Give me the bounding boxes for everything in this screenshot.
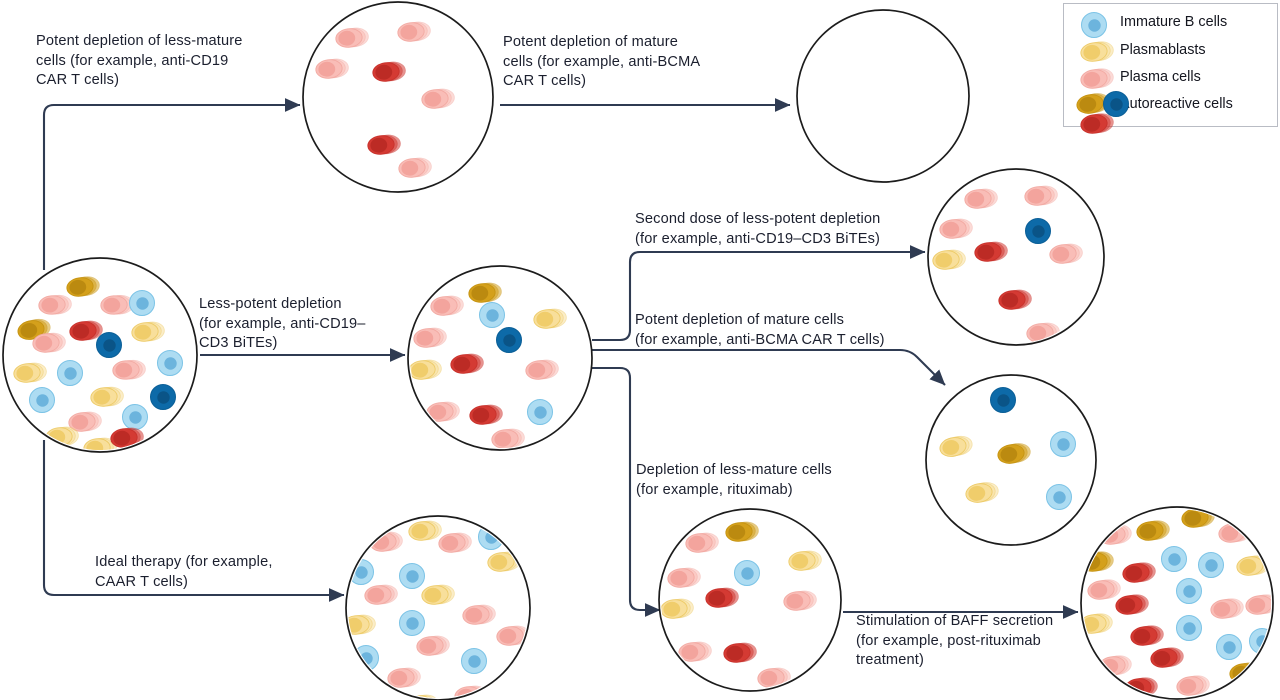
cell-immatureB: [1082, 13, 1107, 38]
cell-immatureB-auto: [497, 328, 522, 353]
arrow-potent-mature-mid: [592, 350, 945, 385]
cell-immatureB: [349, 560, 374, 585]
baseline-cell-population: [3, 258, 197, 459]
cell-immatureB-auto: [151, 385, 176, 410]
label-potent-mature-mid: Potent depletion of mature cells (for ex…: [635, 311, 945, 350]
cell-immatureB: [480, 303, 505, 328]
cell-immatureB: [1162, 547, 1187, 572]
bcma-depletion-outcome: [926, 375, 1096, 545]
partially-depleted-population: [408, 266, 592, 450]
cell-immatureB: [1051, 432, 1076, 457]
cell-immatureB: [400, 564, 425, 589]
cell-immatureB: [1047, 485, 1072, 510]
baff-expanded-population: [1079, 506, 1280, 699]
cell-plasma: [100, 295, 134, 315]
arrow-potent-less-mature: [44, 105, 300, 270]
cell-immatureB: [1217, 635, 1242, 660]
cell-immatureB-auto: [97, 333, 122, 358]
cell-immatureB: [400, 611, 425, 636]
cell-immatureB: [123, 405, 148, 430]
legend-icons: [1064, 4, 1277, 126]
label-baff: Stimulation of BAFF secretion (for examp…: [856, 612, 1106, 671]
cell-immatureB: [1177, 616, 1202, 641]
label-less-potent: Less-potent depletion (for example, anti…: [199, 295, 414, 354]
ideal-therapy-outcome: [342, 516, 530, 700]
diagram-canvas: Potent depletion of less-mature cells (f…: [0, 0, 1280, 700]
cell-immatureB: [528, 400, 553, 425]
cell-immatureB-auto: [1104, 92, 1129, 117]
cell-immatureB: [158, 351, 183, 376]
cell-plasmablast: [352, 679, 386, 700]
cell-immatureB: [462, 649, 487, 674]
cell-immatureB-auto: [1026, 219, 1051, 244]
cell-immatureB: [735, 561, 760, 586]
cell-immatureB-auto: [991, 388, 1016, 413]
cell-plasmablast: [1080, 40, 1115, 63]
cell-immatureB: [30, 388, 55, 413]
label-potent-mature-top: Potent depletion of mature cells (for ex…: [503, 33, 753, 92]
cell-immatureB: [58, 361, 83, 386]
cell-plasma: [1080, 67, 1115, 90]
complete-depletion-empty: [797, 10, 969, 182]
label-potent-less-mature: Potent depletion of less-mature cells (f…: [36, 32, 306, 91]
cell-immatureB: [1199, 553, 1224, 578]
label-second-dose: Second dose of less-potent depletion (fo…: [635, 210, 935, 249]
cell-type-legend: Immature B cells Plasmablasts Plasma cel…: [1063, 3, 1278, 127]
plasma-cells-remaining: [303, 2, 493, 192]
second-dose-outcome: [928, 169, 1104, 345]
cell-immatureB: [1250, 629, 1275, 654]
rituximab-depletion-outcome: [659, 509, 841, 691]
cell-immatureB: [130, 291, 155, 316]
cell-immatureB: [1177, 579, 1202, 604]
label-depletion-less-mature: Depletion of less-mature cells (for exam…: [636, 461, 896, 500]
label-ideal-therapy: Ideal therapy (for example, CAAR T cells…: [95, 553, 315, 592]
